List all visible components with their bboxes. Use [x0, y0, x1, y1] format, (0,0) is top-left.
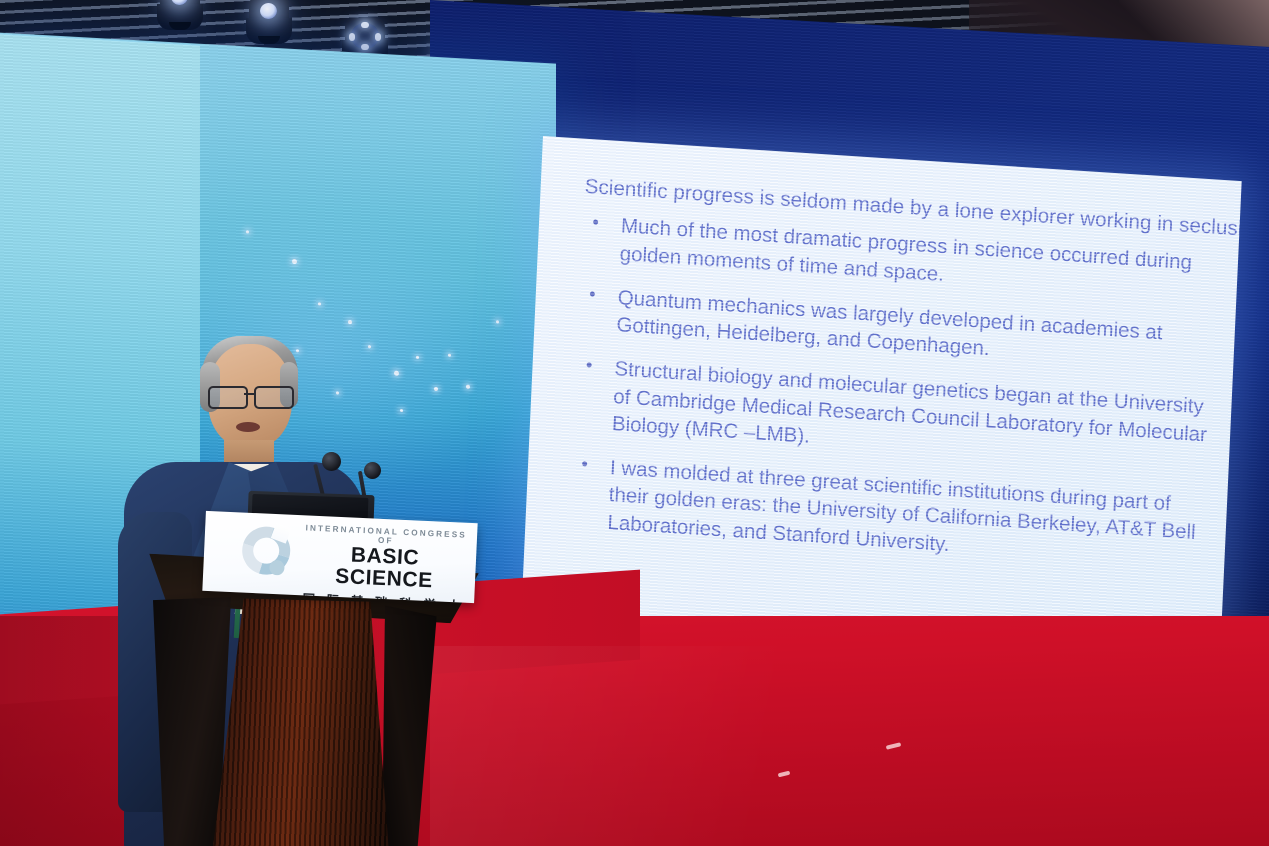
slide-bullet-list: Much of the most dramatic progress in sc…	[569, 210, 1224, 575]
congress-logo-icon	[241, 526, 291, 576]
stage-scene: Scientific progress is seldom made by a …	[0, 0, 1269, 846]
speaker-mouth	[236, 422, 260, 432]
speaker-glasses-icon	[204, 386, 296, 406]
moving-head-spot-light-icon	[158, 0, 202, 36]
bullet-point-icon	[590, 291, 595, 296]
slide-bullet-text: I was molded at three great scientific i…	[607, 456, 1196, 556]
podium-branding-sign: INTERNATIONAL CONGRESS OF BASIC SCIENCE …	[202, 511, 477, 603]
bullet-point-icon	[593, 220, 598, 225]
bullet-point-icon	[582, 461, 587, 466]
sign-line-basic-science: BASIC SCIENCE	[299, 542, 471, 594]
podium-wood-column	[213, 598, 395, 846]
carpet-sheen	[430, 646, 950, 846]
bullet-point-icon	[587, 363, 592, 368]
slide-bullet-item: I was molded at three great scientific i…	[569, 452, 1213, 575]
moving-head-spot-light-icon	[247, 0, 291, 50]
slide-bullet-text: Quantum mechanics was largely developed …	[616, 286, 1163, 360]
